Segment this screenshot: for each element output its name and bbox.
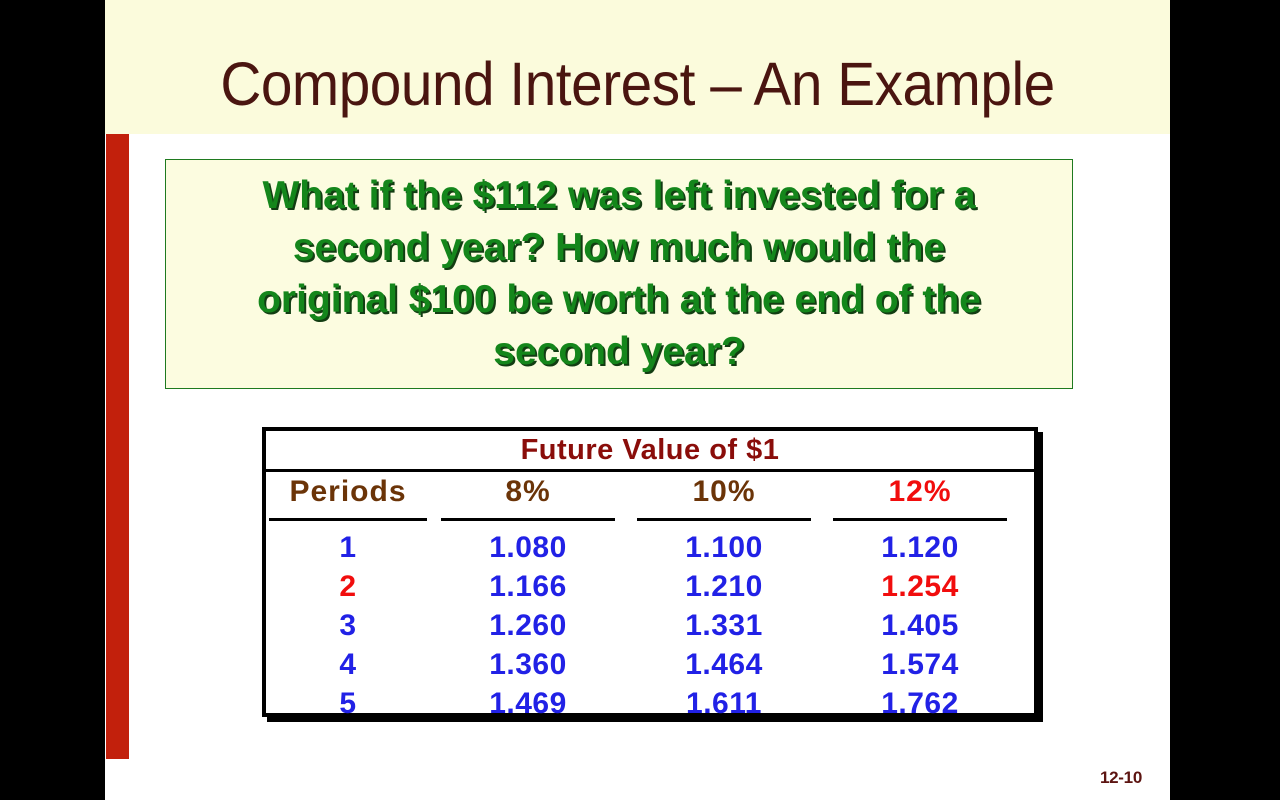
left-accent-bar xyxy=(106,134,129,759)
cell-rate-12: 1.574 xyxy=(822,648,1018,682)
callout-line-3: original $100 be worth at the end of the xyxy=(219,274,1019,326)
cell-period: 3 xyxy=(266,609,430,643)
cell-rate-10: 1.100 xyxy=(626,531,822,565)
column-rule-rate-10 xyxy=(637,518,811,521)
cell-rate-8: 1.469 xyxy=(430,687,626,721)
column-header-rate-12: 12% xyxy=(822,472,1018,528)
cell-period: 1 xyxy=(266,531,430,565)
page-title: Compound Interest – An Example xyxy=(142,52,1132,116)
page-number: 12-10 xyxy=(1100,768,1142,788)
table-row: 1 1.080 1.100 1.120 xyxy=(266,528,1034,567)
cell-rate-12: 1.762 xyxy=(822,687,1018,721)
cell-rate-10: 1.464 xyxy=(626,648,822,682)
column-header-periods: Periods xyxy=(266,472,430,528)
future-value-table: Future Value of $1 Periods 8% 10% 12% 1 … xyxy=(262,427,1038,717)
cell-rate-8: 1.166 xyxy=(430,570,626,604)
cell-rate-10: 1.331 xyxy=(626,609,822,643)
table-row: 3 1.260 1.331 1.405 xyxy=(266,606,1034,645)
cell-period: 4 xyxy=(266,648,430,682)
column-rule-rate-12 xyxy=(833,518,1007,521)
cell-period: 5 xyxy=(266,687,430,721)
column-rule-rate-8 xyxy=(441,518,615,521)
table-header-row: Periods 8% 10% 12% xyxy=(266,472,1034,528)
cell-period: 2 xyxy=(266,570,430,604)
table-title-row: Future Value of $1 xyxy=(266,431,1034,472)
table-row: 4 1.360 1.464 1.574 xyxy=(266,645,1034,684)
column-header-rate-8-label: 8% xyxy=(505,475,550,509)
cell-rate-8: 1.260 xyxy=(430,609,626,643)
column-header-rate-12-label: 12% xyxy=(888,475,951,509)
cell-rate-12: 1.120 xyxy=(822,531,1018,565)
column-rule-periods xyxy=(269,518,427,521)
column-header-rate-10-label: 10% xyxy=(692,475,755,509)
slide-root: Compound Interest – An Example What if t… xyxy=(0,0,1280,800)
question-callout-text: What if the $112 was left invested for a… xyxy=(219,170,1019,378)
column-header-rate-8: 8% xyxy=(430,472,626,528)
callout-line-4: second year? xyxy=(219,326,1019,378)
table-row: 5 1.469 1.611 1.762 xyxy=(266,684,1034,723)
table-title: Future Value of $1 xyxy=(521,434,780,467)
column-header-rate-10: 10% xyxy=(626,472,822,528)
cell-rate-12: 1.405 xyxy=(822,609,1018,643)
question-callout-box: What if the $112 was left invested for a… xyxy=(165,159,1073,389)
cell-rate-8: 1.080 xyxy=(430,531,626,565)
callout-line-1: What if the $112 was left invested for a xyxy=(219,170,1019,222)
cell-rate-12: 1.254 xyxy=(822,570,1018,604)
table-row: 2 1.166 1.210 1.254 xyxy=(266,567,1034,606)
cell-rate-8: 1.360 xyxy=(430,648,626,682)
cell-rate-10: 1.210 xyxy=(626,570,822,604)
callout-line-2: second year? How much would the xyxy=(219,222,1019,274)
column-header-periods-label: Periods xyxy=(289,475,406,509)
cell-rate-10: 1.611 xyxy=(626,687,822,721)
